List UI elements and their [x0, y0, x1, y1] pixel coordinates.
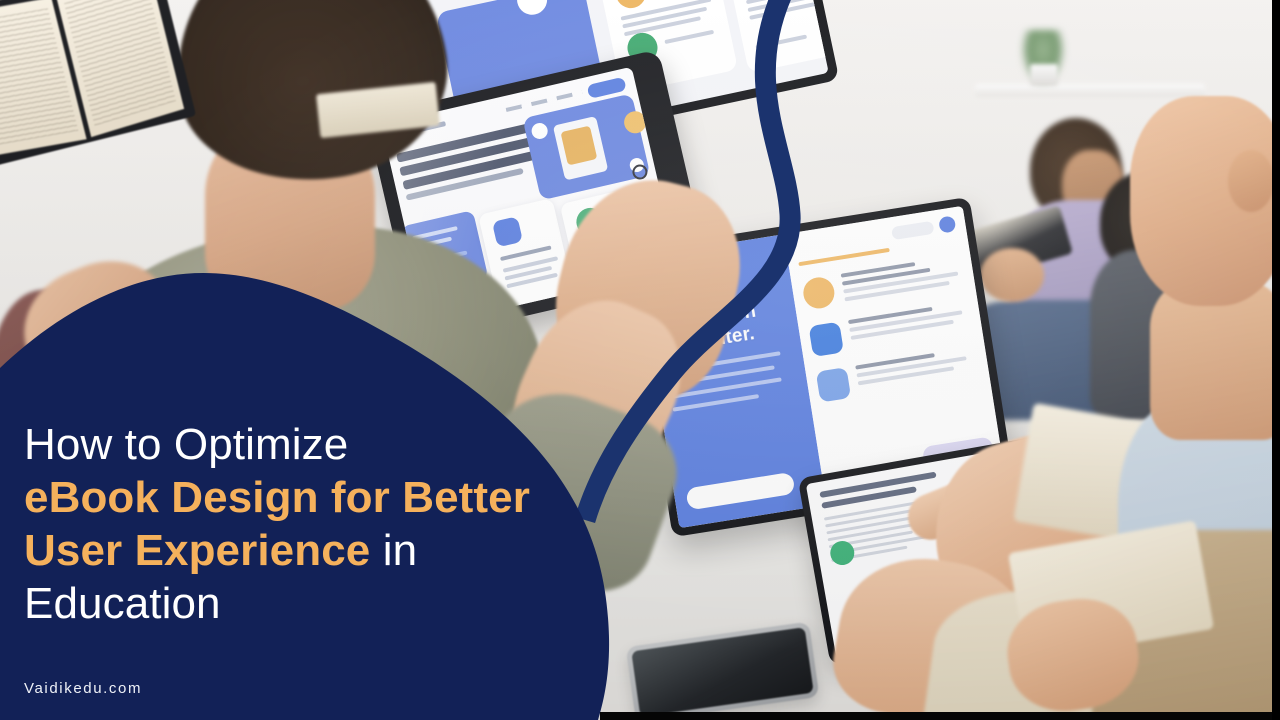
title-line-1: How to Optimize	[24, 418, 584, 471]
brand-url[interactable]: Vaidikedu.com	[24, 680, 142, 697]
title-line-3-accent: User Experience	[24, 526, 370, 575]
title-line-2: eBook Design for Better	[24, 471, 584, 524]
title-block: How to Optimize eBook Design for Better …	[24, 418, 584, 630]
title-line-3: User Experience in	[24, 524, 584, 577]
bottom-edge-strip	[600, 712, 1272, 720]
title-line-3-rest: in	[370, 526, 417, 575]
page-title: How to Optimize eBook Design for Better …	[24, 418, 584, 630]
title-line-4: Education	[24, 577, 584, 630]
right-edge-strip	[1272, 0, 1280, 720]
banner-canvas: ...gner ...eBook ...diglet on computer.	[0, 0, 1280, 720]
